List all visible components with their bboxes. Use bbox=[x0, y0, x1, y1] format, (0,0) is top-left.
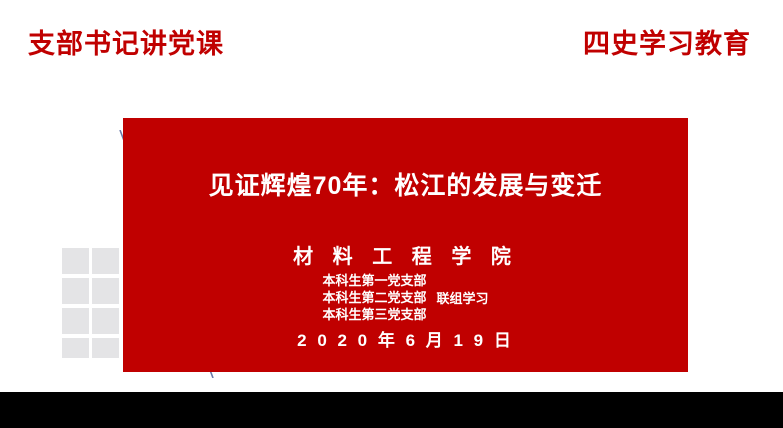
decorative-block bbox=[92, 308, 119, 334]
red-title-panel: 见证辉煌70年：松江的发展与变迁 材 料 工 程 学 院 本科生第一党支部 本科… bbox=[123, 118, 688, 372]
slide-main-title: 见证辉煌70年：松江的发展与变迁 bbox=[123, 166, 688, 202]
slide-college-name: 材 料 工 程 学 院 bbox=[123, 240, 688, 269]
branch-item: 本科生第三党支部 bbox=[322, 306, 426, 323]
joint-study-label: 联组学习 bbox=[437, 288, 489, 307]
decorative-block bbox=[92, 278, 119, 304]
decorative-block bbox=[62, 248, 89, 274]
branch-item: 本科生第二党支部 bbox=[322, 289, 426, 306]
branch-item: 本科生第一党支部 bbox=[322, 272, 426, 289]
header-left-title: 支部书记讲党课 bbox=[28, 22, 224, 61]
decorative-block bbox=[62, 278, 89, 304]
decorative-block bbox=[92, 248, 119, 274]
slide-canvas: 支部书记讲党课 四史学习教育 见证辉煌70年：松江的发展与变迁 材 料 工 程 … bbox=[0, 0, 783, 428]
decorative-square-blocks bbox=[62, 248, 124, 358]
decorative-block bbox=[62, 308, 89, 334]
slide-date: 2 0 2 0 年 6 月 1 9 日 bbox=[123, 326, 688, 351]
decorative-block bbox=[92, 338, 119, 358]
branch-list: 本科生第一党支部 本科生第二党支部 本科生第三党支部 bbox=[322, 272, 426, 323]
header-right-title: 四史学习教育 bbox=[583, 22, 751, 61]
slide-branch-block: 本科生第一党支部 本科生第二党支部 本科生第三党支部 联组学习 bbox=[123, 272, 688, 323]
bottom-letterbox-bar bbox=[0, 392, 783, 428]
decorative-block bbox=[62, 338, 89, 358]
